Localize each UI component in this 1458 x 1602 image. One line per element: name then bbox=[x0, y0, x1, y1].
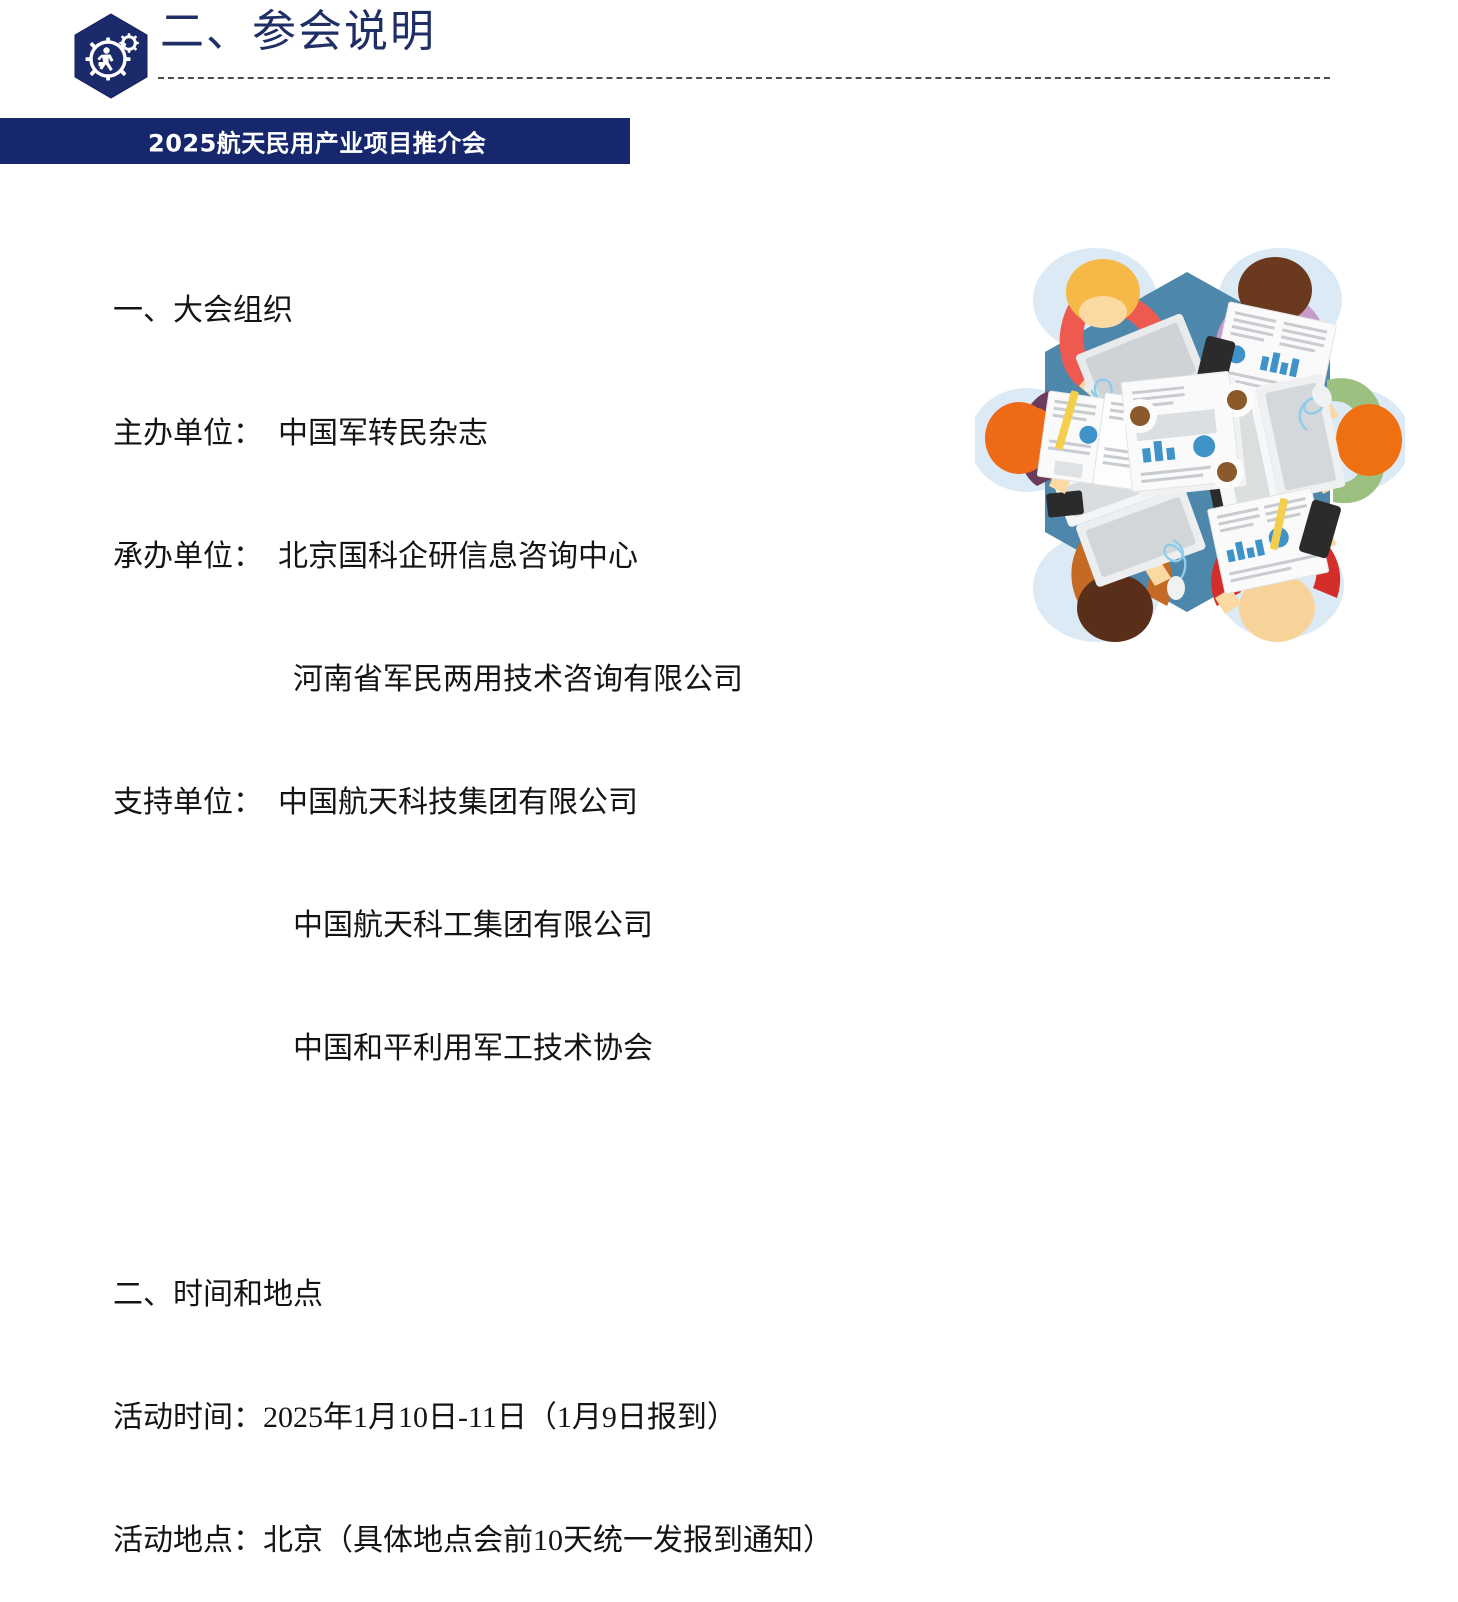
content-line-1: 主办单位： 中国军转民杂志 bbox=[113, 413, 943, 454]
team-meeting-top-view-illustration bbox=[975, 240, 1405, 650]
content-line-4: 支持单位： 中国航天科技集团有限公司 bbox=[113, 782, 943, 823]
content-line-2: 承办单位： 北京国科企研信息咨询中心 bbox=[113, 536, 943, 577]
coffee-cup bbox=[1210, 455, 1244, 489]
section-banner: 2025航天民用产业项目推介会 bbox=[0, 118, 630, 164]
coffee-cup bbox=[1220, 383, 1254, 417]
hexagon-gear-person-icon bbox=[70, 12, 152, 100]
content-line-6: 中国和平利用军工技术协会 bbox=[113, 1028, 943, 1069]
header-divider bbox=[158, 77, 1330, 79]
content-line-10: 活动地点：北京（具体地点会前10天统一发报到通知） bbox=[113, 1520, 943, 1561]
content-line-5: 中国航天科工集团有限公司 bbox=[113, 905, 943, 946]
coffee-cup bbox=[1123, 399, 1157, 433]
content-line-8: 二、时间和地点 bbox=[113, 1274, 943, 1315]
content-line-0: 一、大会组织 bbox=[113, 290, 943, 331]
content-line-3: 河南省军民两用技术咨询有限公司 bbox=[113, 659, 943, 700]
section-banner-label: 2025航天民用产业项目推介会 bbox=[148, 124, 486, 159]
content-line-9: 活动时间：2025年1月10日-11日（1月9日报到） bbox=[113, 1397, 943, 1438]
content-body: 一、大会组织 主办单位： 中国军转民杂志 承办单位： 北京国科企研信息咨询中心 … bbox=[113, 208, 943, 1602]
page-title: 二、参会说明 bbox=[160, 8, 436, 56]
content-line-blank bbox=[113, 1151, 943, 1192]
